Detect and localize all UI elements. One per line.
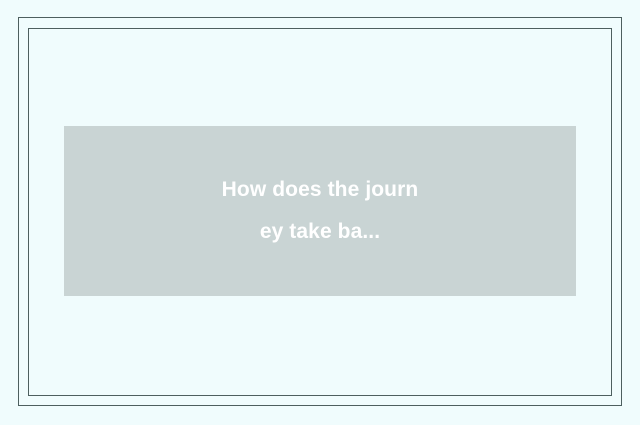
screenshot-canvas: How does the journey take ba...: [0, 0, 640, 425]
image-placeholder-panel[interactable]: How does the journey take ba...: [64, 126, 576, 296]
placeholder-title-text: How does the journey take ba...: [220, 169, 420, 253]
